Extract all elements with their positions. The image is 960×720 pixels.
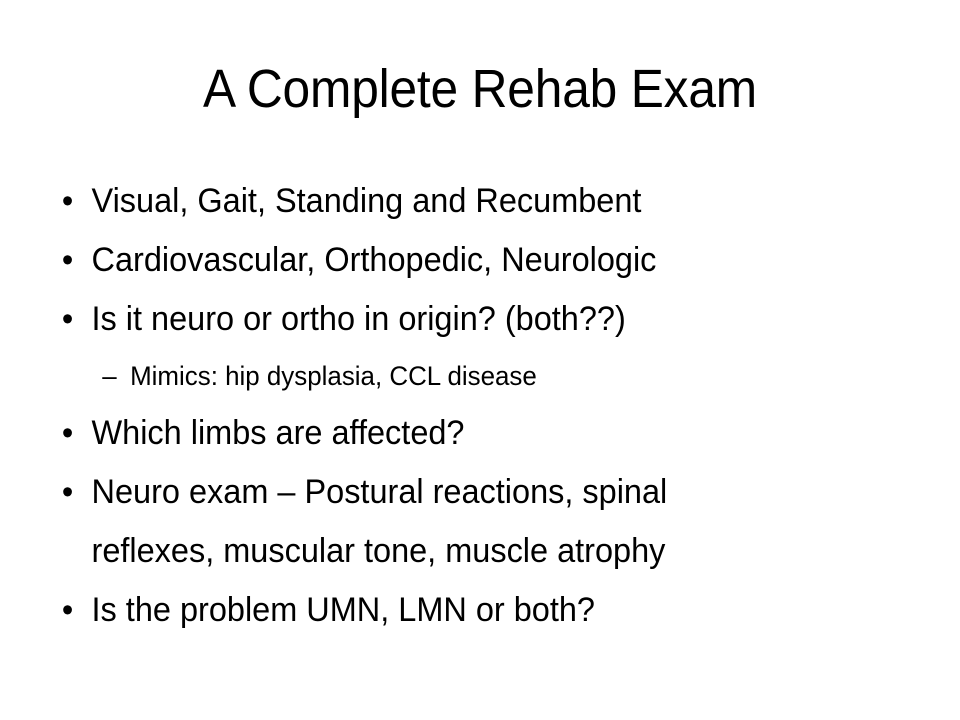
list-item-label: Neuro exam – Postural reactions, spinal [92,473,668,511]
list-item-label: Visual, Gait, Standing and Recumbent [92,182,642,220]
list-item: • Neuro exam – Postural reactions, spina… [60,463,862,522]
bullet-icon: • [62,290,83,349]
list-item-label: Cardiovascular, Orthopedic, Neurologic [92,241,657,279]
list-item-label: Is the problem UMN, LMN or both? [92,591,595,629]
slide-body-list: • Visual, Gait, Standing and Recumbent •… [60,172,900,640]
list-item-continuation-label: reflexes, muscular tone, muscle atrophy [92,532,666,570]
list-item-label: Which limbs are affected? [92,414,465,452]
bullet-icon: • [62,231,83,290]
bullet-icon: • [62,404,83,463]
bullet-icon: • [62,581,83,640]
list-item-continuation: reflexes, muscular tone, muscle atrophy [60,522,862,581]
list-item-label: Is it neuro or ortho in origin? (both??) [92,300,626,338]
list-item: • Is it neuro or ortho in origin? (both?… [60,290,862,349]
list-item: • Visual, Gait, Standing and Recumbent [60,172,862,231]
dash-icon: – [102,349,116,404]
bullet-icon: • [62,172,83,231]
sub-list-item: – Mimics: hip dysplasia, CCL disease [60,349,866,404]
sub-list-item-label: Mimics: hip dysplasia, CCL disease [130,361,537,391]
page-title: A Complete Rehab Exam [38,58,921,120]
list-item: • Cardiovascular, Orthopedic, Neurologic [60,231,862,290]
slide-canvas: A Complete Rehab Exam • Visual, Gait, St… [0,0,960,720]
bullet-icon: • [62,463,83,522]
list-item: • Is the problem UMN, LMN or both? [60,581,862,640]
list-item: • Which limbs are affected? [60,404,862,463]
